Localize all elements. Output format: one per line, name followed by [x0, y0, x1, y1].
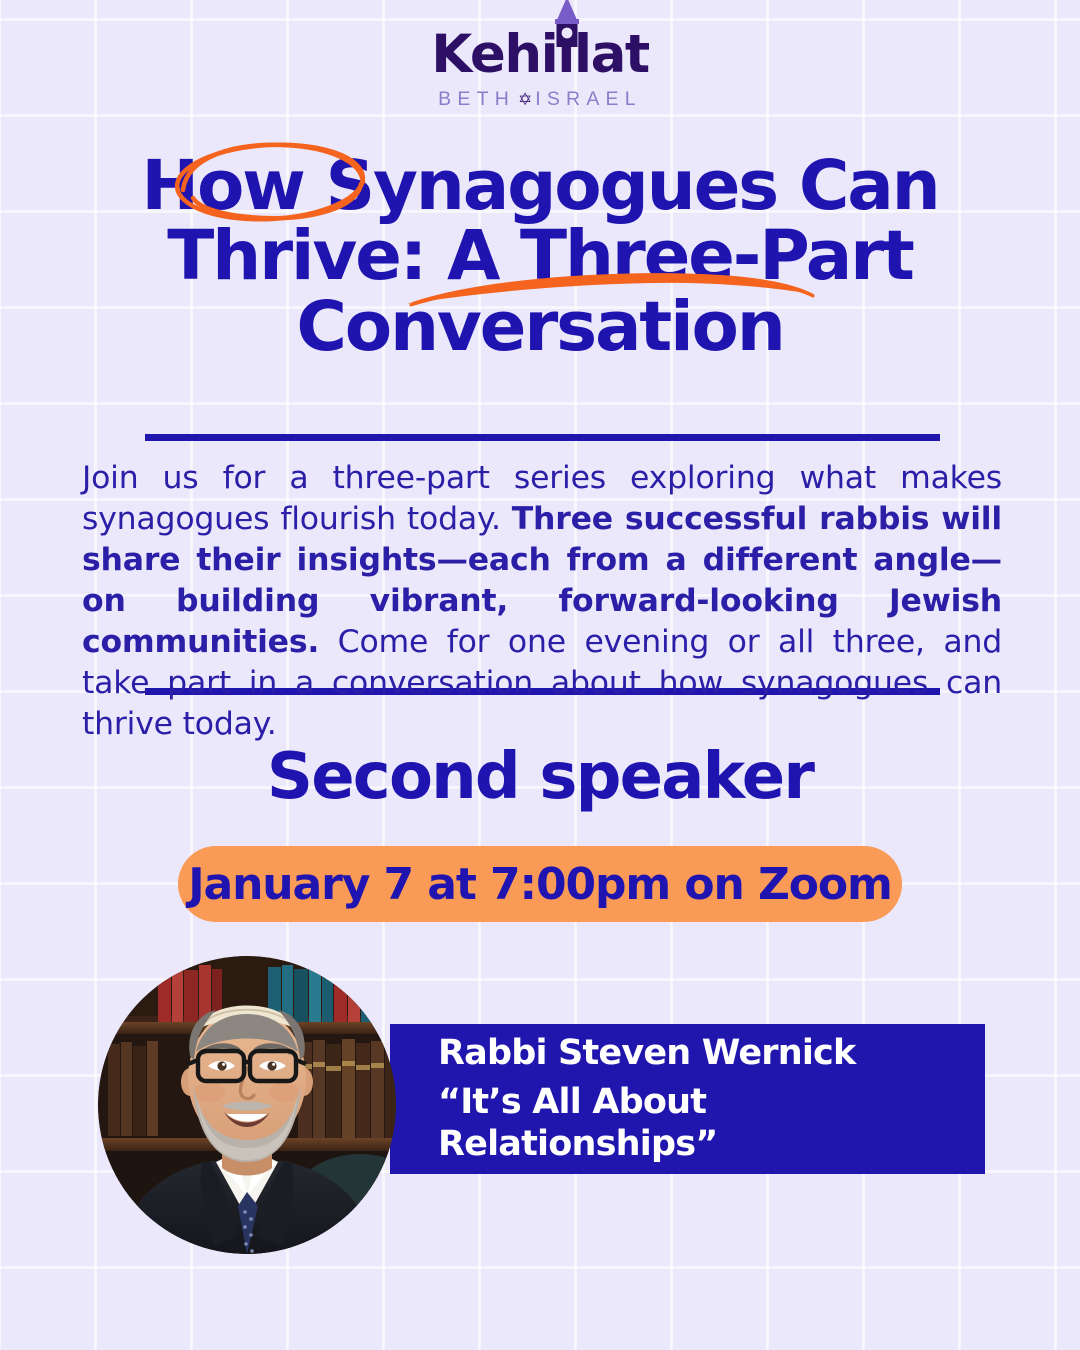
title-line-2: Thrive: A Three-Part — [60, 222, 1020, 290]
speaker-talk-title: “It’s All About Relationships” — [438, 1081, 978, 1166]
speaker-name-text: Rabbi Steven Wernick “It’s All About Rel… — [438, 1024, 978, 1174]
title-text-3: Conversation — [296, 287, 783, 367]
speaker-section-heading: Second speaker — [0, 740, 1080, 814]
logo-subtitle-left: BETH — [438, 88, 515, 111]
title-text-1: How Synagogues Can — [141, 146, 938, 226]
speaker-name: Rabbi Steven Wernick — [438, 1032, 978, 1075]
title-text-2: Thrive: A Three-Part — [167, 216, 912, 296]
title-line-3: Conversation — [60, 293, 1020, 361]
title-line-1: How Synagogues Can — [60, 152, 1020, 220]
flyer-page: Kehillat BETH ✡ ISRAEL How Synagogues Ca… — [0, 0, 1080, 1350]
logo-subtitle-right: ISRAEL — [535, 88, 642, 111]
logo-subtitle: BETH ✡ ISRAEL — [438, 88, 642, 111]
intro-paragraph: Join us for a three-part series explorin… — [82, 458, 1002, 745]
logo-wordmark-wrap: Kehillat — [431, 28, 648, 81]
logo-name: Kehillat — [431, 24, 648, 85]
synagogue-tower-icon — [547, 0, 587, 51]
date-time-text: January 7 at 7:00pm on Zoom — [188, 859, 892, 910]
speaker-avatar — [98, 956, 396, 1254]
divider-top — [145, 434, 940, 441]
organization-logo: Kehillat BETH ✡ ISRAEL — [0, 28, 1080, 111]
star-of-david-icon: ✡ — [518, 90, 532, 110]
page-title: How Synagogues Can Thrive: A Three-Part … — [60, 152, 1020, 361]
date-time-badge: January 7 at 7:00pm on Zoom — [178, 846, 902, 922]
